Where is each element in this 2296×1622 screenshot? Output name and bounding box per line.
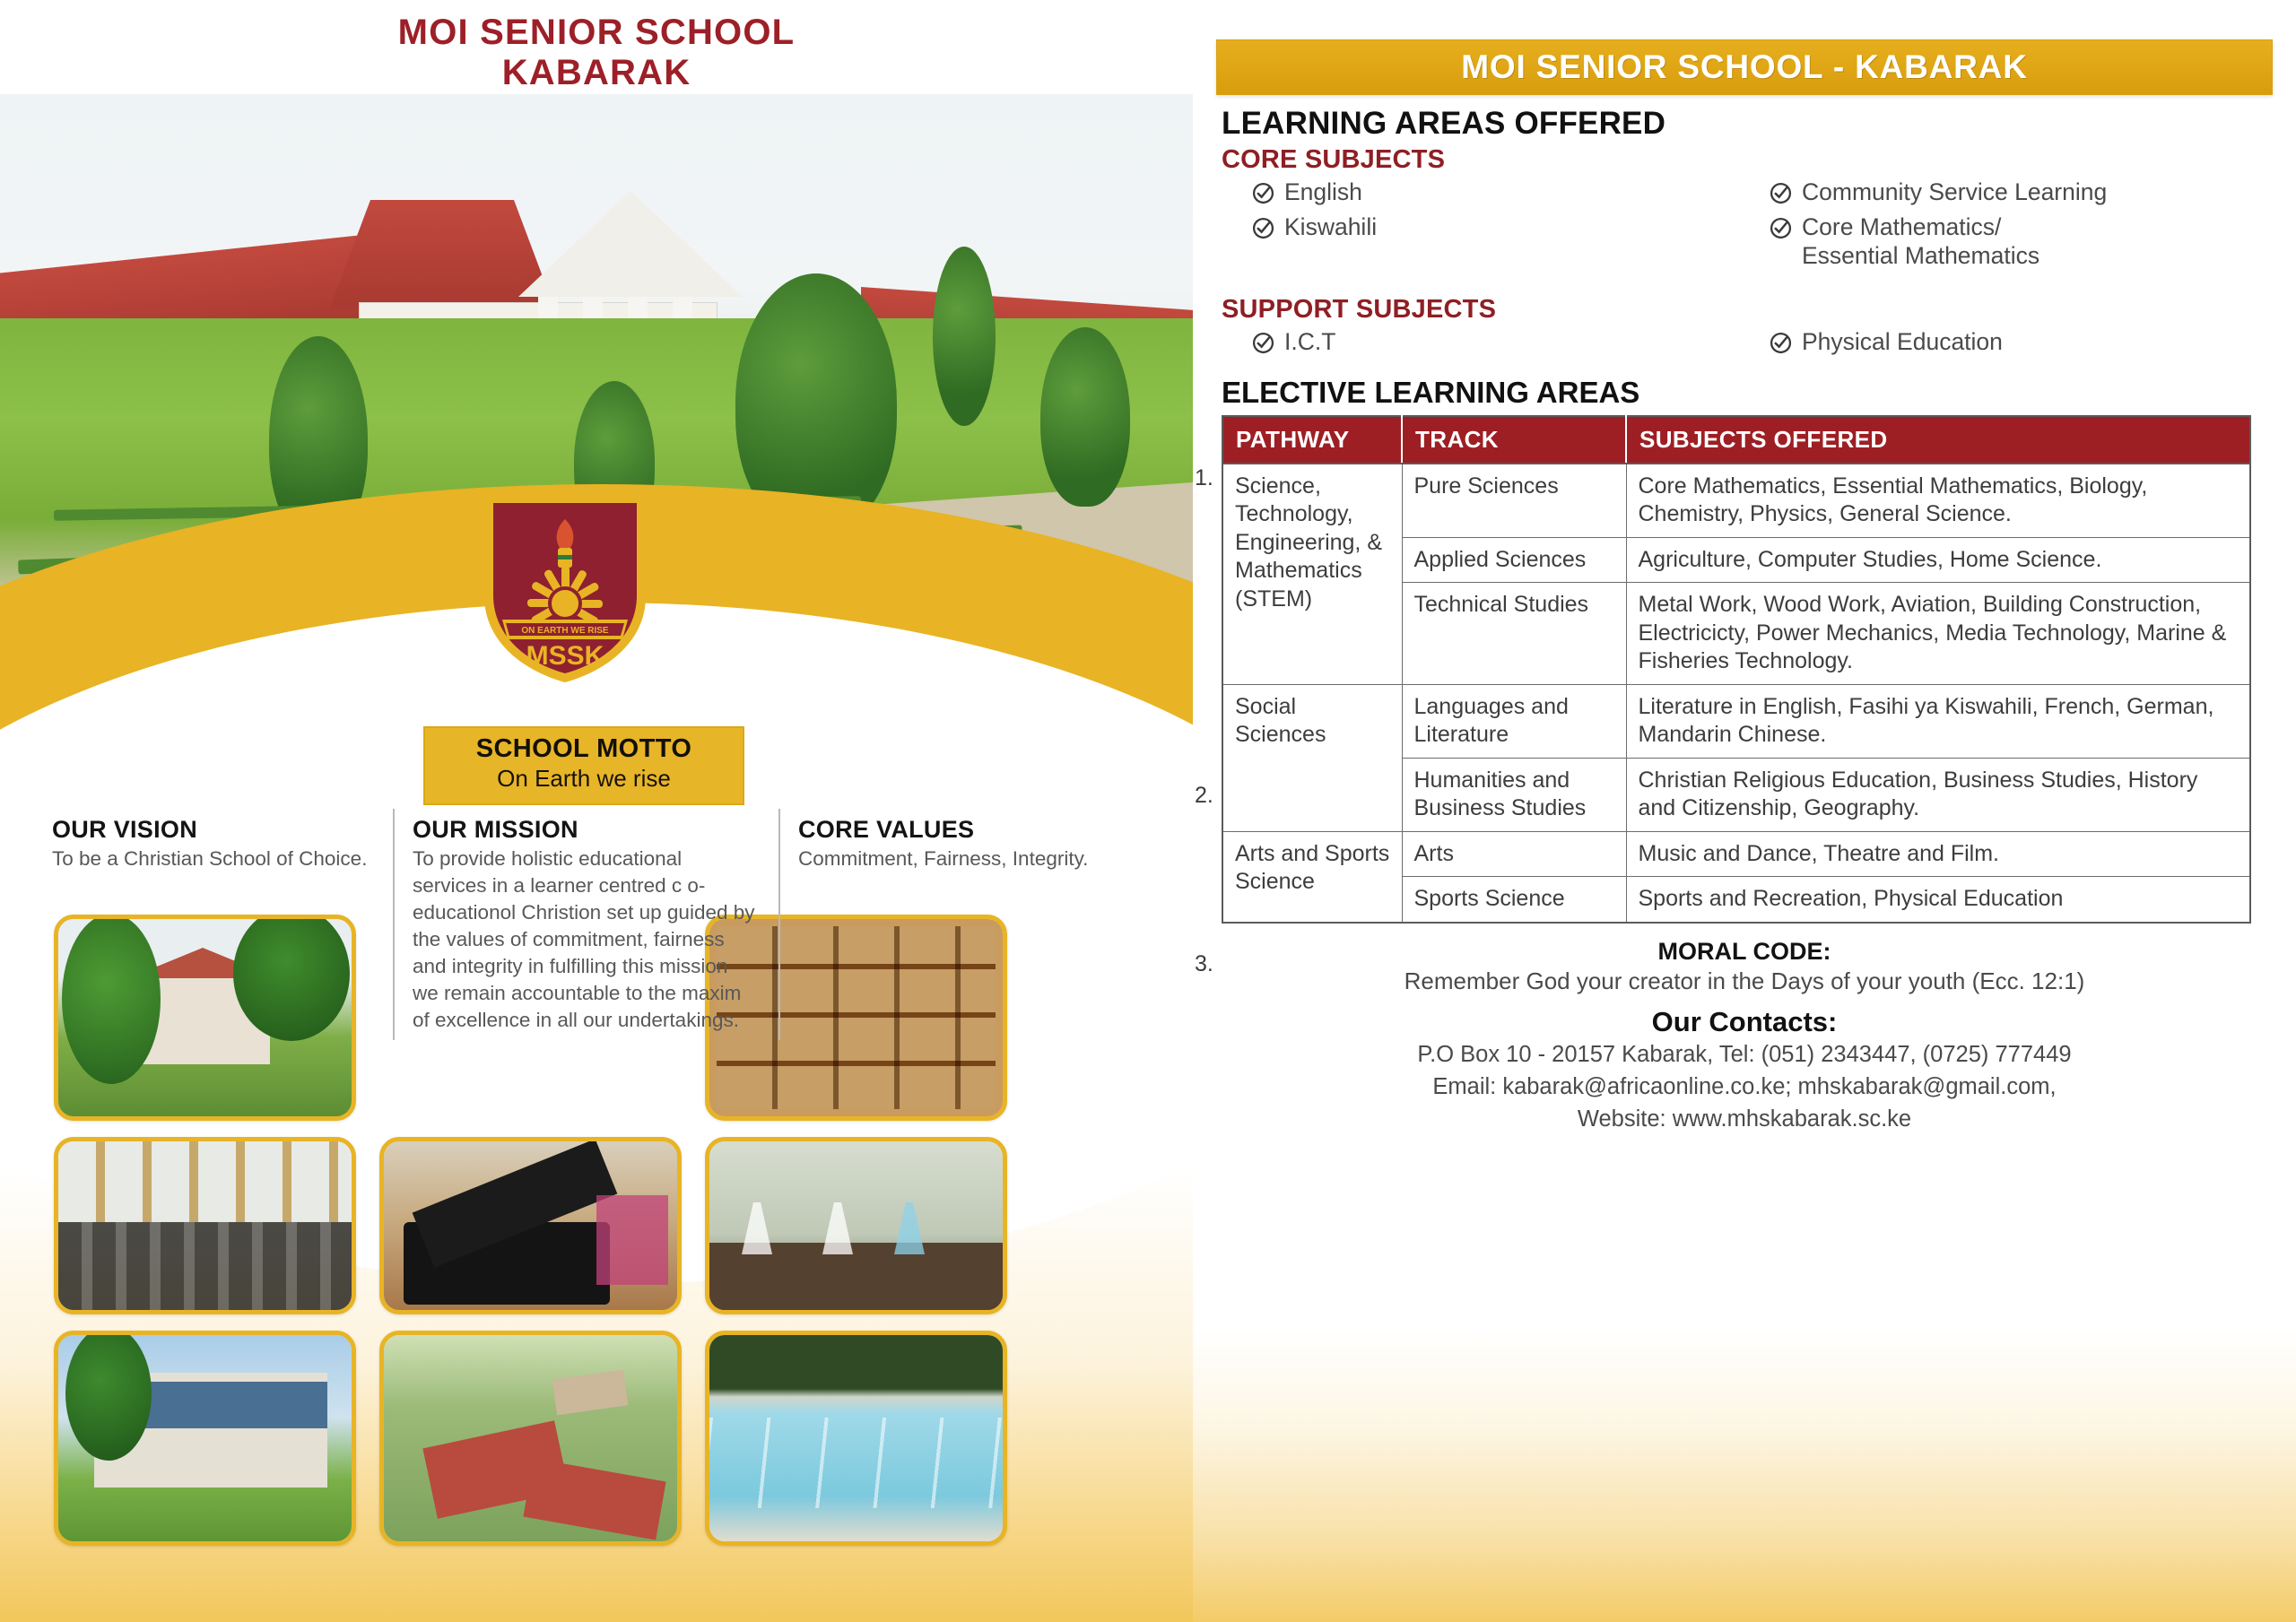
mission-heading: OUR MISSION	[413, 816, 759, 844]
aerial-campus-photo	[379, 1331, 682, 1546]
school-title-line-2: KABARAK	[0, 53, 1193, 93]
subject-label: English	[1284, 178, 1362, 207]
crest-shield-icon: ON EARTH WE RISE MSSK	[479, 489, 651, 688]
subject-item: Kiswahili	[1252, 213, 1744, 244]
core-subjects-heading: CORE SUBJECTS	[1222, 145, 2273, 175]
school-title-line-1: MOI SENIOR SCHOOL	[0, 13, 1193, 53]
subjects-cell: Christian Religious Education, Business …	[1626, 758, 2250, 831]
contact-email: Email: kabarak@africaonline.co.ke; mhska…	[1216, 1071, 2273, 1103]
right-panel: MOI SENIOR SCHOOL - KABARAK LEARNING ARE…	[1193, 0, 2296, 1622]
right-panel-banner: MOI SENIOR SCHOOL - KABARAK	[1216, 39, 2273, 95]
subjects-cell: Literature in English, Fasihi ya Kiswahi…	[1626, 684, 2250, 758]
vision-heading: OUR VISION	[52, 816, 373, 844]
vision-mission-values: OUR VISION To be a Christian School of C…	[52, 816, 1142, 1033]
track-cell: Sports Science	[1402, 877, 1626, 923]
school-motto-box: SCHOOL MOTTO On Earth we rise	[423, 726, 744, 805]
moral-code-text: Remember God your creator in the Days of…	[1216, 967, 2273, 995]
support-subjects-right-column: Physical Education	[1744, 328, 2273, 363]
moral-code-heading: MORAL CODE:	[1216, 938, 2273, 966]
swimming-pool-photo	[705, 1331, 1007, 1546]
hero-tree-5	[1040, 327, 1130, 507]
subject-item: English	[1252, 178, 1744, 209]
banner-title: MOI SENIOR SCHOOL - KABARAK	[1461, 48, 2027, 86]
table-header-row: PATHWAY TRACK SUBJECTS OFFERED	[1222, 416, 2250, 464]
table-row: Social Sciences Languages and Literature…	[1222, 684, 2250, 758]
pathway-cell: Social Sciences	[1222, 684, 1402, 831]
pathway-cell: Science, Technology, Engineering, & Math…	[1222, 464, 1402, 685]
column-header-track: TRACK	[1402, 416, 1626, 464]
row-number: 3.	[1195, 951, 1213, 977]
footer: MORAL CODE: Remember God your creator in…	[1216, 938, 2273, 1136]
hero-tree-3	[933, 247, 996, 426]
left-panel: MOI SENIOR SCHOOL KABARAK	[0, 0, 1193, 1622]
photo-row-2	[54, 1137, 1144, 1314]
subject-item: Core Mathematics/ Essential Mathematics	[1770, 213, 2273, 271]
check-circle-icon	[1770, 332, 1792, 359]
core-values-text: Commitment, Fairness, Integrity.	[798, 846, 1122, 872]
subject-label: Kiswahili	[1284, 213, 1377, 242]
support-subjects-block: SUPPORT SUBJECTS I.C.T Phys	[1216, 295, 2273, 363]
subject-item: Community Service Learning	[1770, 178, 2273, 209]
science-laboratory-photo	[705, 1137, 1007, 1314]
contact-address: P.O Box 10 - 20157 Kabarak, Tel: (051) 2…	[1216, 1038, 2273, 1071]
core-values-column: CORE VALUES Commitment, Fairness, Integr…	[778, 816, 1142, 1033]
elective-learning-areas-heading: ELECTIVE LEARNING AREAS	[1222, 376, 2273, 410]
motto-text: On Earth we rise	[425, 765, 743, 793]
page-title: MOI SENIOR SCHOOL KABARAK	[0, 13, 1193, 93]
subjects-cell: Music and Dance, Theatre and Film.	[1626, 831, 2250, 877]
column-header-subjects: SUBJECTS OFFERED	[1626, 416, 2250, 464]
subject-label: I.C.T	[1284, 328, 1335, 357]
check-circle-icon	[1252, 332, 1274, 359]
support-subjects-left-column: I.C.T	[1216, 328, 1744, 363]
subjects-cell: Core Mathematics, Essential Mathematics,…	[1626, 464, 2250, 538]
mission-column: OUR MISSION To provide holistic educatio…	[393, 816, 778, 1033]
pathway-cell: Arts and Sports Science	[1222, 831, 1402, 923]
track-cell: Humanities and Business Studies	[1402, 758, 1626, 831]
vision-column: OUR VISION To be a Christian School of C…	[52, 816, 393, 1033]
column-header-pathway: PATHWAY	[1222, 416, 1402, 464]
track-cell: Languages and Literature	[1402, 684, 1626, 758]
contact-website: Website: www.mhskabarak.sc.ke	[1216, 1103, 2273, 1135]
contacts-heading: Our Contacts:	[1216, 1006, 2273, 1038]
subjects-cell: Sports and Recreation, Physical Educatio…	[1626, 877, 2250, 923]
elective-table-wrapper: 1. 2. 3. PATHWAY TRACK SUBJECTS OFFERED …	[1222, 415, 2273, 924]
track-cell: Technical Studies	[1402, 583, 1626, 685]
core-subjects-right-column: Community Service Learning Core Mathemat…	[1744, 178, 2273, 275]
core-values-heading: CORE VALUES	[798, 816, 1122, 844]
support-subjects-grid: I.C.T Physical Education	[1216, 328, 2273, 363]
table-row: Science, Technology, Engineering, & Math…	[1222, 464, 2250, 538]
academic-block-photo	[54, 1331, 356, 1546]
elective-learning-areas-table: PATHWAY TRACK SUBJECTS OFFERED Science, …	[1222, 415, 2251, 924]
subject-label: Community Service Learning	[1802, 178, 2107, 207]
motto-heading: SCHOOL MOTTO	[425, 734, 743, 764]
track-cell: Pure Sciences	[1402, 464, 1626, 538]
track-cell: Arts	[1402, 831, 1626, 877]
table-row: Arts and Sports Science Arts Music and D…	[1222, 831, 2250, 877]
learning-areas-heading: LEARNING AREAS OFFERED	[1222, 106, 2273, 142]
row-number: 1.	[1195, 465, 1213, 491]
core-subjects-left-column: English Kiswahili	[1216, 178, 1744, 275]
support-subjects-heading: SUPPORT SUBJECTS	[1222, 295, 2273, 325]
photo-row-3	[54, 1331, 1144, 1546]
school-crest: ON EARTH WE RISE MSSK	[479, 489, 651, 688]
subject-label: Physical Education	[1802, 328, 2003, 357]
check-circle-icon	[1252, 217, 1274, 244]
vision-text: To be a Christian School of Choice.	[52, 846, 373, 872]
subject-item: I.C.T	[1252, 328, 1744, 359]
check-circle-icon	[1252, 182, 1274, 209]
crest-banner-text: ON EARTH WE RISE	[521, 626, 609, 636]
check-circle-icon	[1770, 217, 1792, 244]
subject-label: Core Mathematics/ Essential Mathematics	[1802, 213, 2039, 271]
core-subjects-grid: English Kiswahili Community Service Lear…	[1216, 178, 2273, 275]
crest-initials: MSSK	[526, 641, 604, 671]
pathway-row-numbers: 1. 2. 3.	[1195, 415, 1220, 924]
classroom-desks-photo	[54, 1137, 356, 1314]
check-circle-icon	[1770, 182, 1792, 209]
subject-item: Physical Education	[1770, 328, 2273, 359]
mission-text: To provide holistic educational services…	[413, 846, 759, 1033]
row-number: 2.	[1195, 783, 1213, 809]
grand-piano-music-room-photo	[379, 1137, 682, 1314]
brochure-page: MOI SENIOR SCHOOL KABARAK	[0, 0, 2296, 1622]
subjects-cell: Agriculture, Computer Studies, Home Scie…	[1626, 537, 2250, 583]
track-cell: Applied Sciences	[1402, 537, 1626, 583]
subjects-cell: Metal Work, Wood Work, Aviation, Buildin…	[1626, 583, 2250, 685]
